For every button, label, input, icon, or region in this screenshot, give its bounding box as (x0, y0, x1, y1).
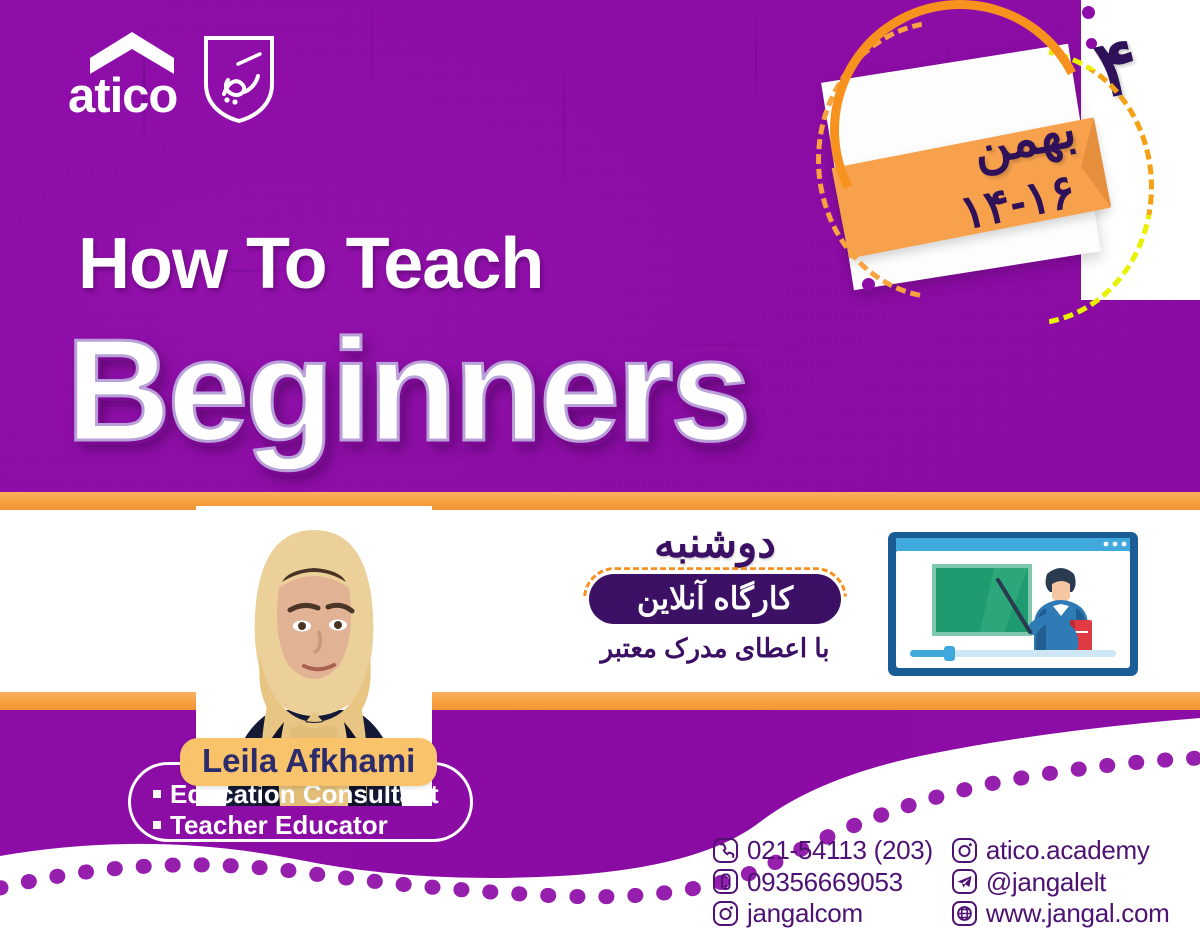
decor-dot (862, 278, 875, 291)
orange-divider-bottom (0, 692, 1200, 710)
contact-row-telegram[interactable]: @jangalelt (951, 868, 1170, 897)
contact-text: @jangalelt (986, 868, 1106, 897)
contact-text: 09356669053 (747, 868, 903, 897)
date-badge: ۴ بهمن ۱۴-۱۶ (814, 10, 1144, 310)
brand-logo[interactable]: atico (68, 28, 276, 128)
instagram-icon (712, 900, 739, 927)
globe-icon (951, 900, 978, 927)
contact-text: jangalcom (747, 899, 863, 928)
title-line-1: How To Teach (78, 228, 543, 300)
decor-dot (1082, 6, 1095, 19)
telegram-icon (951, 868, 978, 895)
decor-dot (1062, 288, 1075, 301)
decor-dot (1086, 38, 1097, 49)
title-line-2: Beginners (66, 318, 748, 463)
contact-column-right: atico.academy @jangalelt (951, 836, 1170, 928)
decor-dot (868, 306, 880, 318)
phone-icon (712, 837, 739, 864)
session-info: دوشنبه کارگاه آنلاین با اعطای مدرک معتبر (570, 520, 860, 664)
atico-wordmark: atico (68, 72, 177, 121)
decor-dot (1068, 318, 1080, 330)
bullet-icon (153, 790, 161, 798)
speaker-name-chip: Leila Afkhami (180, 738, 437, 786)
session-weekday: دوشنبه (570, 520, 860, 566)
bullet-icon (153, 821, 161, 829)
speaker-role-text: Teacher Educator (170, 810, 388, 841)
session-certificate-note: با اعطای مدرک معتبر (570, 633, 860, 664)
contact-column-left: 021-54113 (203) 09356669053 jangalcom (712, 836, 933, 928)
mobile-icon (712, 868, 739, 895)
contact-row-website[interactable]: www.jangal.com (951, 899, 1170, 928)
contact-text: www.jangal.com (986, 899, 1170, 928)
chevron-up-icon (90, 32, 174, 74)
speaker-role-item: Teacher Educator (153, 810, 470, 841)
contact-block: 021-54113 (203) 09356669053 jangalcom (712, 836, 1170, 928)
contact-row-instagram[interactable]: jangalcom (712, 899, 933, 928)
contact-text: atico.academy (986, 836, 1150, 865)
contact-row-phone[interactable]: 021-54113 (203) (712, 836, 933, 865)
contact-row-instagram-academy[interactable]: atico.academy (951, 836, 1170, 865)
atico-logo: atico (68, 28, 188, 128)
session-format-badge: کارگاه آنلاین (589, 574, 841, 624)
contact-row-mobile[interactable]: 09356669053 (712, 868, 933, 897)
jangal-shield-icon (202, 34, 276, 124)
orange-divider-top (0, 492, 1200, 510)
contact-text: 021-54113 (203) (747, 836, 933, 865)
online-teacher-video-icon (884, 528, 1142, 680)
poster-canvas: atico ۴ بهمن ۱۴-۱۶ How To Teach Beginner… (0, 0, 1200, 948)
instagram-icon (951, 837, 978, 864)
